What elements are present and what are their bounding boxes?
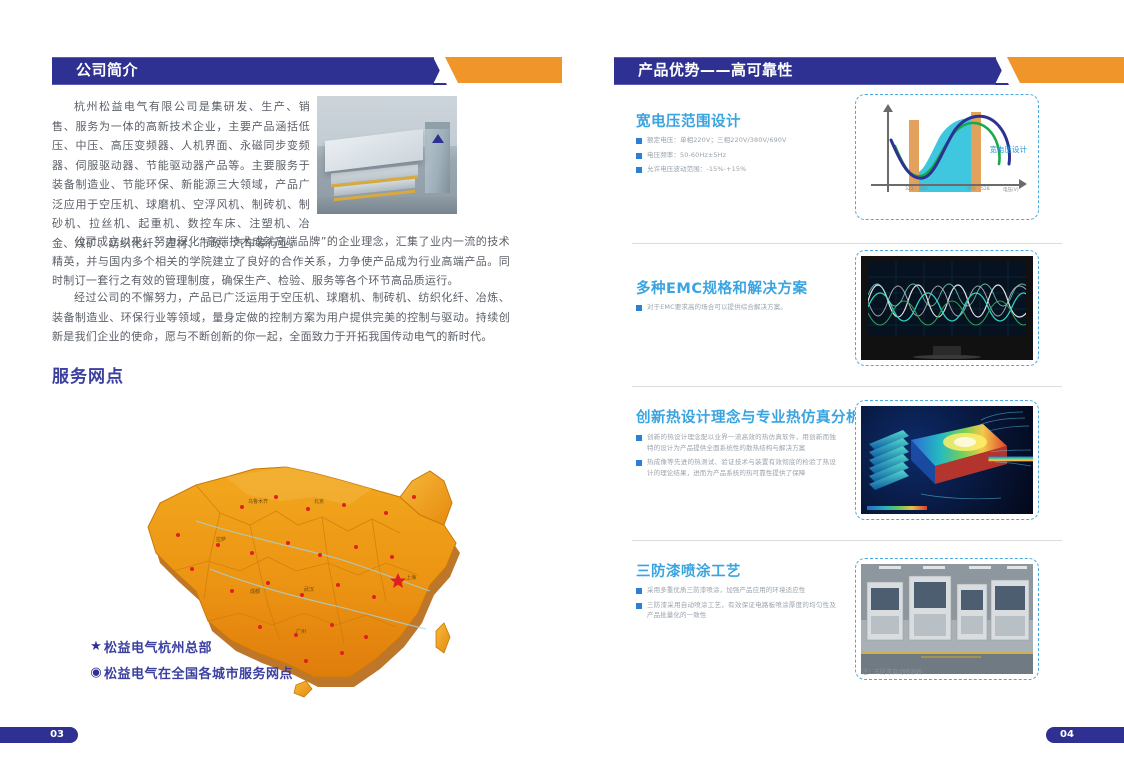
legend-label: 松益电气杭州总部 [104, 637, 212, 656]
svg-text:武汉: 武汉 [304, 586, 314, 593]
wide-voltage-chart: 宽电压设计 323 380 480 528 电压(V) [861, 100, 1033, 214]
right-section-title: 产品优势——高可靠性 [638, 57, 793, 83]
bullet-item: 对于EMC要求高的场合可以提供综合解决方案。 [636, 302, 836, 313]
feature-title-wide-voltage: 宽电压范围设计 [636, 110, 741, 131]
brochure-spread: 公司简介 杭州松益电气有限公司是集研发、生产、销售、服务为一体的高新技术企业，主… [0, 0, 1124, 765]
dot-marker-icon: ◉ [88, 665, 104, 680]
chart-x-tick: 380 [919, 187, 928, 192]
bullet-text: 额定电压：单相220V；三相220V/380V/690V [647, 135, 787, 146]
svg-text:拉萨: 拉萨 [216, 536, 226, 543]
bullet-item: 创新的热设计理念配以业界一流高效的热仿真软件，用创新而独特的设计为产品提供全面系… [636, 432, 836, 453]
feature-divider [632, 243, 1062, 244]
factory-photo [317, 96, 457, 214]
wide-voltage-chart-figure: 宽电压设计 323 380 480 528 电压(V) [855, 94, 1039, 220]
bullet-text: 三防漆采用自动喷涂工艺，有效保证电路板喷涂厚度的均匀性及产品批量化的一致性 [647, 600, 836, 621]
feature-bullets-thermal: 创新的热设计理念配以业界一流高效的热仿真软件，用创新而独特的设计为产品提供全面系… [636, 432, 836, 482]
emc-waveform-monitor [861, 256, 1033, 360]
svg-text:北京: 北京 [314, 498, 324, 505]
thermal-simulation-image [861, 406, 1033, 514]
bullet-text: 对于EMC要求高的场合可以提供综合解决方案。 [647, 302, 787, 313]
legend-label: 松益电气在全国各城市服务网点 [104, 663, 293, 682]
right-page-number-badge: 04 [1046, 727, 1124, 743]
feature-title-conformal-coating: 三防漆喷涂工艺 [636, 560, 741, 581]
feature-title-thermal: 创新热设计理念与专业热仿真分析 [636, 406, 861, 427]
legend-item: ◉ 松益电气在全国各城市服务网点 [88, 663, 293, 682]
bullet-square-icon [636, 435, 642, 441]
bullet-square-icon [636, 305, 642, 311]
intro-paragraph-2: 公司成立以来，努力深化“高端技术成就高端品牌”的企业理念，汇集了业内一流的技术精… [52, 232, 510, 291]
left-page-number-badge: 03 [0, 727, 78, 743]
feature-bullets-conformal-coating: 采用多重优质三防漆喷涂，加强产品应用的环境适应性 三防漆采用自动喷涂工艺，有效保… [636, 585, 836, 625]
chart-x-axis-arrow [1019, 179, 1027, 189]
svg-text:乌鲁木齐: 乌鲁木齐 [248, 498, 268, 505]
bullet-text: 允许电压波动范围：-15%-+15% [647, 164, 746, 175]
bullet-text: 热成像等先进的热测试、验证技术与装置有效彻底的检验了热设计的理论结果，进而为产品… [647, 457, 836, 478]
map-legend: ★ 松益电气杭州总部 ◉ 松益电气在全国各城市服务网点 [88, 637, 293, 689]
chart-x-tick: 480 [967, 187, 976, 192]
bullet-item: 额定电压：单相220V；三相220V/380V/690V [636, 135, 836, 146]
legend-item: ★ 松益电气杭州总部 [88, 637, 293, 656]
company-logo-icon [432, 134, 444, 143]
feature-divider [632, 386, 1062, 387]
svg-text:广州: 广州 [296, 628, 306, 635]
svg-text:成都: 成都 [250, 588, 260, 595]
bullet-item: 允许电压波动范围：-15%-+15% [636, 164, 836, 175]
bullet-item: 采用多重优质三防漆喷涂，加强产品应用的环境适应性 [636, 585, 836, 596]
chart-annotation: 宽电压设计 [990, 144, 1028, 155]
bullet-square-icon [636, 167, 642, 173]
left-section-banner: 公司简介 [52, 57, 510, 83]
intro-paragraph-3: 经过公司的不懈努力，产品已广泛运用于空压机、球磨机、制砖机、纺织化纤、冶炼、装备… [52, 288, 510, 347]
svg-text:上海: 上海 [406, 574, 416, 581]
right-page-number: 04 [1060, 727, 1074, 743]
chart-x-tick: 528 [981, 187, 990, 192]
service-network-title: 服务网点 [52, 362, 124, 387]
star-marker-icon: ★ [88, 639, 104, 654]
bullet-square-icon [636, 153, 642, 159]
bullet-square-icon [636, 603, 642, 609]
left-page-number: 03 [50, 727, 64, 743]
right-section-banner: 产品优势——高可靠性 [614, 57, 1072, 83]
coating-line-figure: 注：三防漆自动喷涂线 [855, 558, 1039, 680]
left-section-title: 公司简介 [76, 57, 138, 83]
feature-bullets-emc: 对于EMC要求高的场合可以提供综合解决方案。 [636, 302, 836, 317]
intro-paragraph-1: 杭州松益电气有限公司是集研发、生产、销售、服务为一体的高新技术企业，主要产品涵括… [52, 97, 310, 253]
bullet-text: 电压频率：50-60Hz±5Hz [647, 150, 726, 161]
coating-line-photo [861, 564, 1033, 674]
chart-y-axis [887, 108, 889, 192]
bullet-square-icon [636, 138, 642, 144]
bullet-item: 电压频率：50-60Hz±5Hz [636, 150, 836, 161]
feature-title-emc: 多种EMC规格和解决方案 [636, 277, 807, 298]
feature-bullets-wide-voltage: 额定电压：单相220V；三相220V/380V/690V 电压频率：50-60H… [636, 135, 836, 179]
bullet-item: 三防漆采用自动喷涂工艺，有效保证电路板喷涂厚度的均匀性及产品批量化的一致性 [636, 600, 836, 621]
left-page: 公司简介 杭州松益电气有限公司是集研发、生产、销售、服务为一体的高新技术企业，主… [0, 0, 562, 765]
chart-x-axis-label: 电压(V) [1003, 187, 1019, 193]
bullet-square-icon [636, 588, 642, 594]
emc-monitor-figure [855, 250, 1039, 366]
bullet-text: 采用多重优质三防漆喷涂，加强产品应用的环境适应性 [647, 585, 805, 596]
chart-x-axis [871, 184, 1021, 186]
thermal-simulation-figure [855, 400, 1039, 520]
chart-y-axis-arrow [883, 104, 893, 112]
bullet-text: 创新的热设计理念配以业界一流高效的热仿真软件，用创新而独特的设计为产品提供全面系… [647, 432, 836, 453]
bullet-square-icon [636, 460, 642, 466]
feature-divider [632, 540, 1062, 541]
chart-x-tick: 323 [905, 187, 914, 192]
bullet-item: 热成像等先进的热测试、验证技术与装置有效彻底的检验了热设计的理论结果，进而为产品… [636, 457, 836, 478]
figure-caption: 注：三防漆自动喷涂线 [862, 667, 922, 676]
